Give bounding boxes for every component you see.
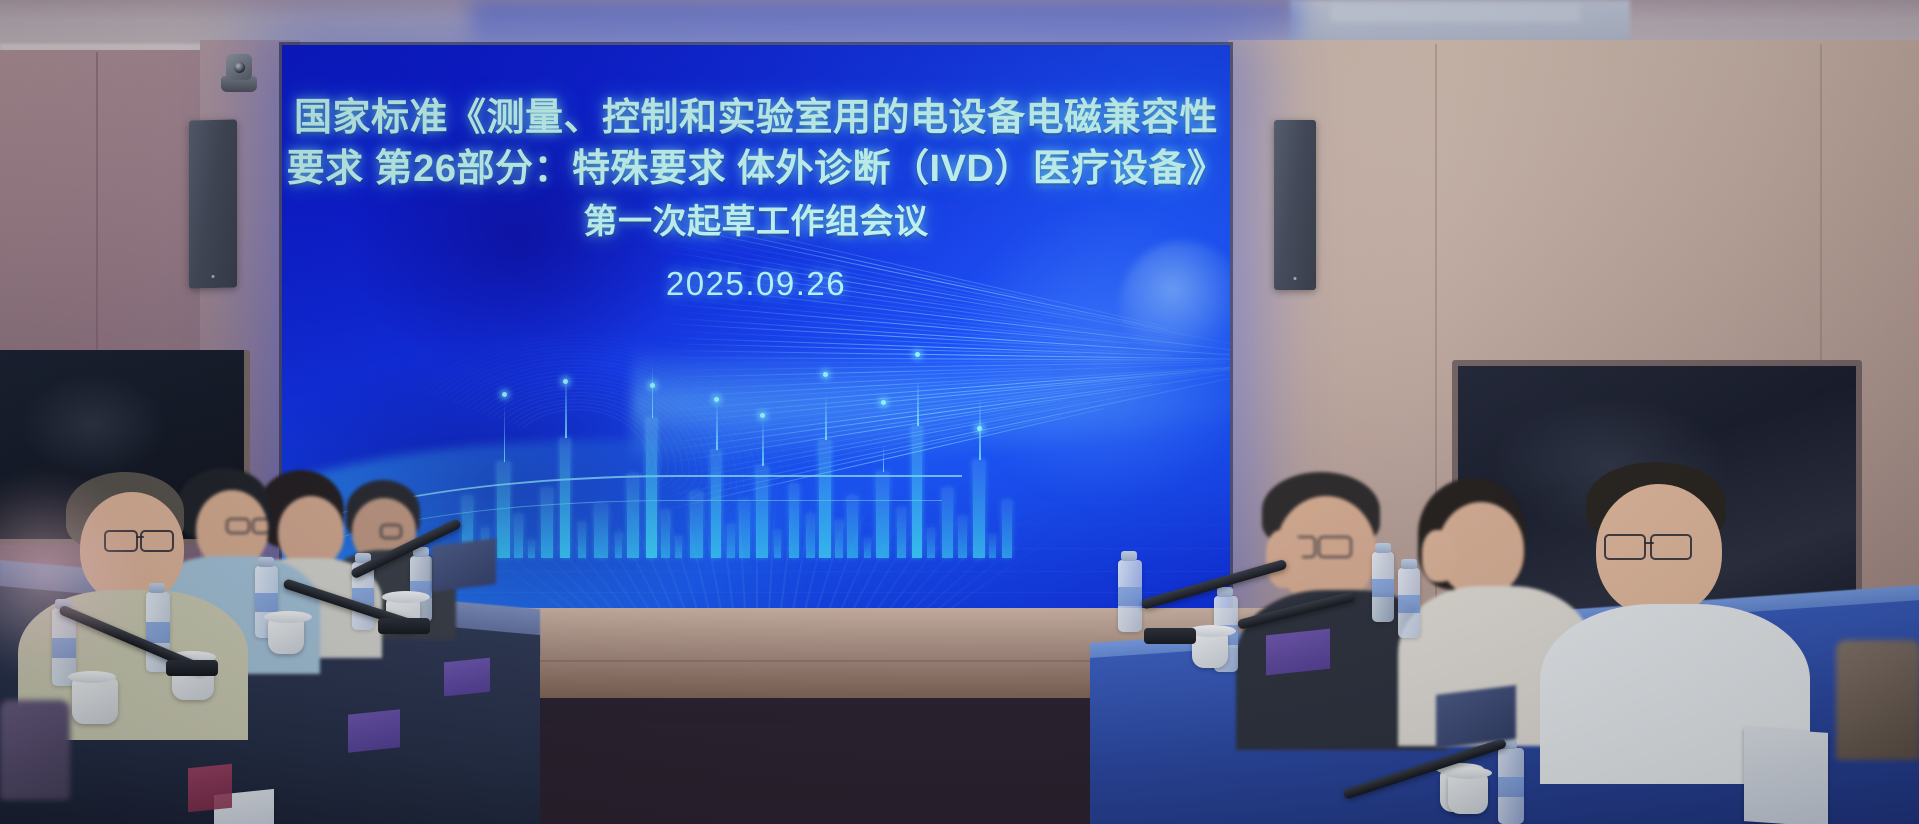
participant-hand — [1266, 530, 1302, 588]
water-bottle — [1498, 748, 1524, 824]
glasses-right-lens — [1318, 536, 1352, 558]
glasses-left-lens — [380, 524, 402, 539]
glasses-right-lens — [252, 518, 270, 534]
name-card — [1744, 727, 1828, 824]
slide-title-line-3: 第一次起草工作组会议 — [584, 195, 929, 249]
bottle-cap — [1121, 551, 1137, 561]
water-bottle — [1398, 568, 1420, 638]
glasses-left-lens — [1604, 534, 1646, 560]
tea-cup-lid — [264, 611, 312, 623]
tea-cup — [1192, 632, 1228, 668]
bottle-cap — [149, 583, 165, 593]
glasses-bridge — [1644, 542, 1654, 544]
wall-speaker-right — [1274, 120, 1316, 290]
bottle-label — [1498, 777, 1524, 797]
bottle-label — [146, 622, 170, 643]
glasses-right-lens — [1650, 534, 1692, 560]
bottle-label — [52, 638, 76, 658]
tea-cup — [268, 618, 304, 654]
bottle-label — [1118, 587, 1142, 606]
speaker-led-indicator — [1294, 277, 1297, 280]
bottle-cap — [1401, 559, 1417, 569]
glasses-bridge — [136, 536, 144, 538]
screenshot-root: 国家标准《测量、控制和实验室用的电设备电磁兼容性 要求 第26部分：特殊要求 体… — [0, 0, 1919, 824]
tea-cup-lid — [68, 671, 116, 683]
tea-cup — [1448, 774, 1488, 814]
slide-date: 2025.09.26 — [666, 265, 846, 303]
desk-microphone-base — [166, 660, 218, 676]
glasses-left-lens — [226, 518, 250, 534]
ptz-camera-lens — [234, 62, 245, 73]
bottle-cap — [258, 557, 274, 567]
ceiling-blue-reflection — [470, 0, 1300, 48]
desk-microphone-base — [378, 618, 430, 634]
bottle-cap — [1217, 587, 1233, 597]
slide-title-line-1: 国家标准《测量、控制和实验室用的电设备电磁兼容性 — [294, 93, 1218, 144]
tea-cup — [72, 678, 118, 724]
speaker-led-indicator — [212, 275, 215, 278]
chair-left — [0, 700, 70, 800]
water-bottle — [1372, 552, 1394, 622]
laptop — [432, 538, 496, 592]
monitor-reflection — [20, 373, 166, 477]
glasses-right-lens — [140, 530, 174, 552]
tea-cup-lid — [1444, 767, 1492, 779]
bottle-label — [255, 593, 278, 612]
slide-title-line-2: 要求 第26部分：特殊要求 体外诊断（IVD）医疗设备》 — [287, 144, 1226, 195]
name-card — [444, 658, 490, 697]
wall-speaker-left — [189, 119, 237, 288]
participant-hand — [1422, 530, 1456, 582]
name-card — [188, 764, 232, 813]
water-bottle — [1118, 560, 1142, 632]
tea-cup-lid — [382, 591, 430, 603]
name-card — [348, 709, 400, 752]
chair-right — [1836, 640, 1919, 760]
participant-7 — [1560, 462, 1780, 712]
ceiling-light-panel — [1330, 4, 1580, 22]
desk-microphone-base — [1144, 628, 1196, 644]
bottle-label — [1398, 595, 1420, 613]
ptz-camera-icon — [219, 50, 259, 98]
name-card — [1266, 629, 1330, 676]
bottle-label — [1372, 579, 1394, 597]
laptop — [1436, 685, 1516, 749]
bottle-cap — [1375, 543, 1391, 553]
glasses-left-lens — [104, 530, 138, 552]
